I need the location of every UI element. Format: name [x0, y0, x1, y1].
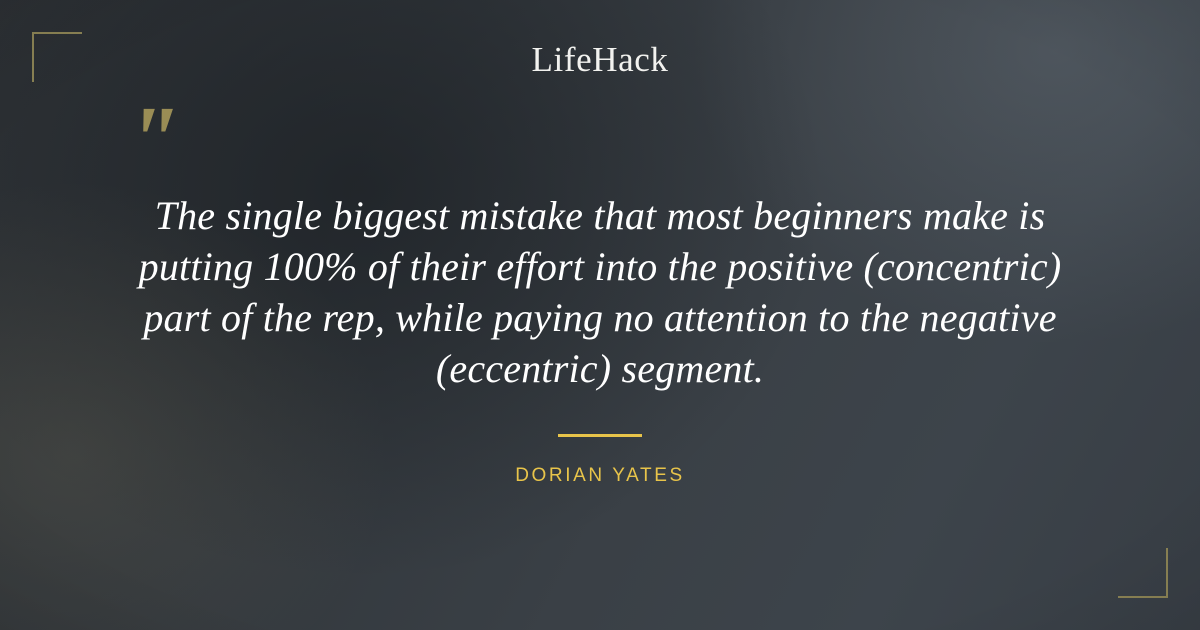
quote-text: The single biggest mistake that most beg… [110, 190, 1090, 394]
quote-line: putting 100% of their effort into the po… [110, 241, 1090, 292]
quote-line: The single biggest mistake that most beg… [110, 190, 1090, 241]
brand-logo: LifeHack [0, 40, 1200, 80]
quote-line: part of the rep, while paying no attenti… [110, 292, 1090, 343]
opening-quote-mark-icon: " [126, 92, 179, 188]
quote-line: (eccentric) segment. [110, 343, 1090, 394]
quote-author: DORIAN YATES [0, 465, 1200, 487]
quote-card: LifeHack " The single biggest mistake th… [0, 0, 1200, 630]
corner-bracket-bottom-right-icon [1118, 548, 1168, 598]
divider-rule [558, 434, 642, 437]
